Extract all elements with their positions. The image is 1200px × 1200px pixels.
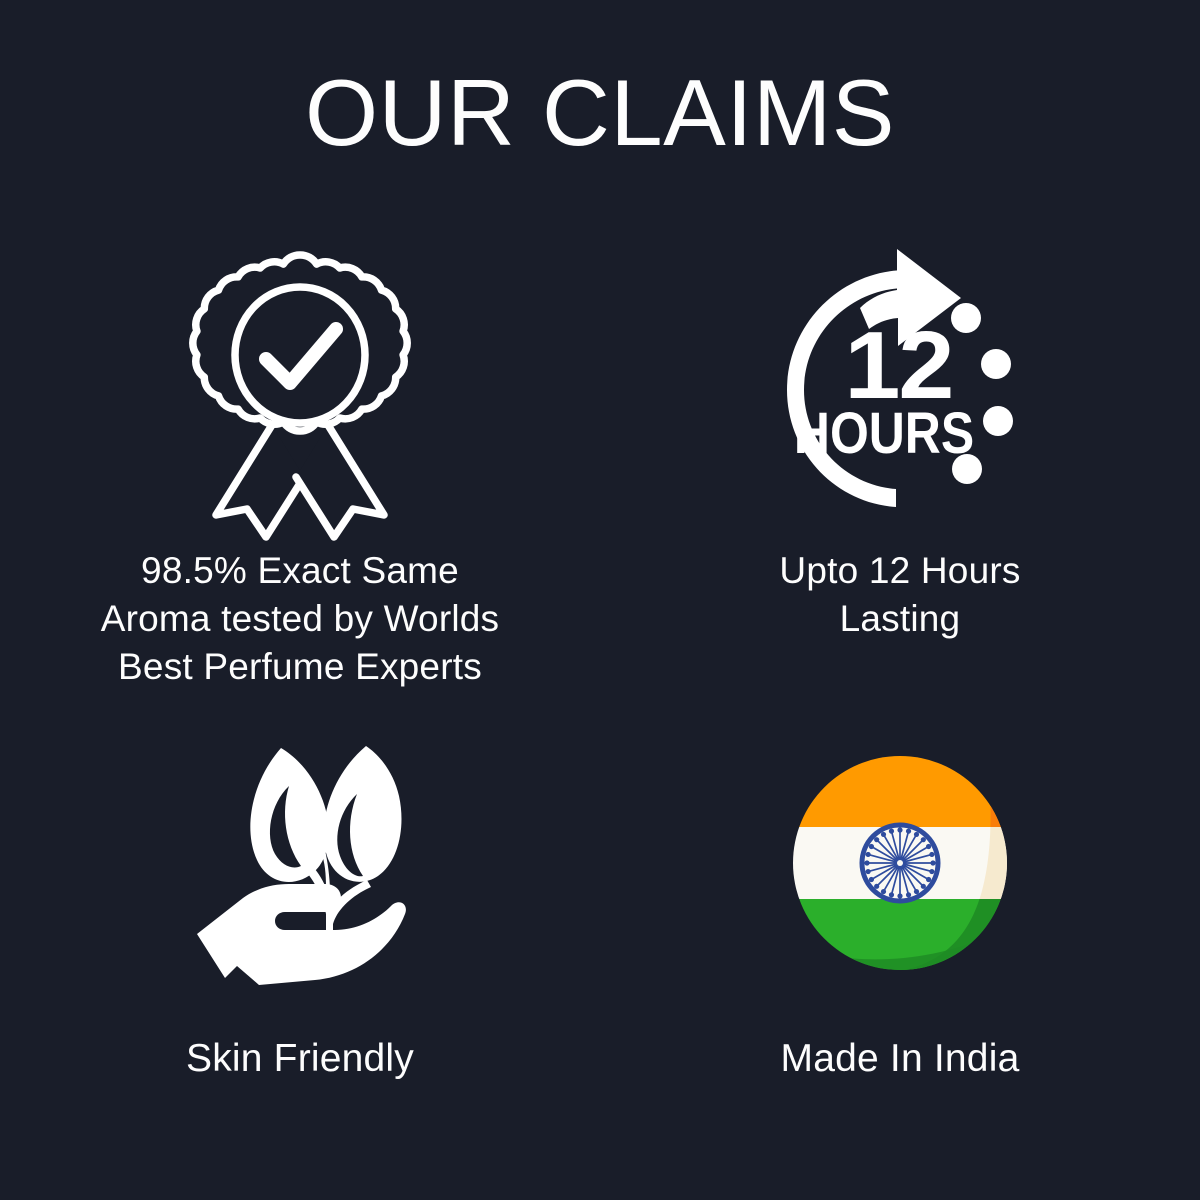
our-claims-poster: OUR CLAIMS 98.5% Exact Same (0, 0, 1200, 1200)
claim-item-skin-friendly: Skin Friendly (0, 705, 600, 1200)
caption-line: Made In India (781, 1034, 1020, 1085)
hand-holding-plant-icon (185, 735, 415, 990)
flag-band-saffron (792, 755, 1008, 827)
claim-caption-skin-friendly: Skin Friendly (186, 1034, 414, 1085)
caption-line: Best Perfume Experts (101, 643, 500, 691)
caption-line: 98.5% Exact Same (101, 547, 500, 595)
claim-caption-made-in-india: Made In India (781, 1034, 1020, 1085)
svg-text:HOURS: HOURS (794, 402, 974, 466)
page-title: OUR CLAIMS (0, 66, 1200, 160)
caption-line: Aroma tested by Worlds (101, 595, 500, 643)
ashoka-chakra (862, 825, 938, 901)
india-flag-circle-icon (792, 735, 1008, 990)
caption-line: Upto 12 Hours (779, 547, 1020, 595)
claim-item-long-lasting: 12 HOURS Upto 12 Hours Lasting (600, 205, 1200, 705)
caption-line: Lasting (779, 595, 1020, 643)
award-ribbon-check-icon (180, 247, 420, 507)
claim-item-aroma-accuracy: 98.5% Exact Same Aroma tested by Worlds … (0, 205, 600, 705)
claim-caption-aroma-accuracy: 98.5% Exact Same Aroma tested by Worlds … (101, 547, 500, 691)
caption-line: Skin Friendly (186, 1034, 414, 1085)
claim-item-made-in-india: Made In India (600, 705, 1200, 1200)
claim-caption-long-lasting: Upto 12 Hours Lasting (779, 547, 1020, 643)
claims-grid: 98.5% Exact Same Aroma tested by Worlds … (0, 205, 1200, 1200)
twelve-hours-clock-arrow-icon: 12 HOURS (765, 247, 1035, 507)
